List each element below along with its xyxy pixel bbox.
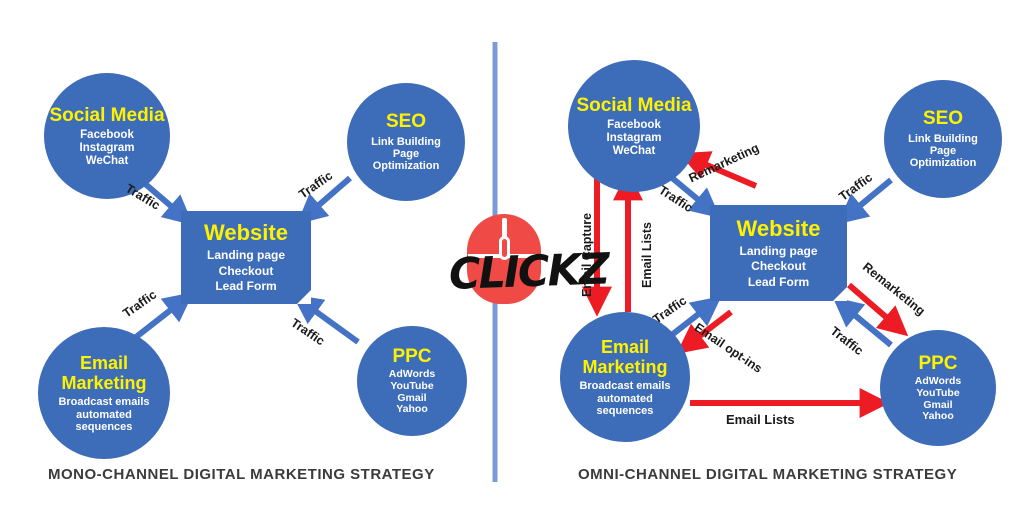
node-title: Website (204, 220, 288, 246)
left-node-seo[interactable]: SEO Link Building Page Optimization (347, 83, 465, 201)
left-node-ppc[interactable]: PPC AdWords YouTube Gmail Yahoo (357, 326, 467, 436)
node-title: Social Media (49, 105, 164, 126)
left-panel-caption: MONO-CHANNEL DIGITAL MARKETING STRATEGY (48, 466, 435, 483)
node-title: PPC (392, 346, 431, 367)
right-edge-label-email-lists-ppc: Email Lists (726, 412, 795, 427)
node-title: Website (737, 216, 821, 242)
node-title: Email Marketing (560, 337, 690, 377)
node-title: PPC (918, 353, 957, 374)
left-node-website[interactable]: Website Landing page Checkout Lead Form (181, 211, 311, 304)
corner-fold-icon (833, 287, 847, 301)
node-subtitle: Broadcast emails automated sequences (579, 380, 670, 417)
clickz-logo: CLICKZ (449, 214, 559, 310)
right-edge-label-email-capture: Email Capture (580, 213, 594, 297)
node-subtitle: Link Building Page Optimization (908, 133, 978, 170)
node-title: SEO (923, 108, 963, 129)
node-subtitle: AdWords YouTube Gmail Yahoo (915, 376, 961, 423)
node-title: SEO (386, 111, 426, 132)
right-node-social-media[interactable]: Social Media Facebook Instagram WeChat (568, 60, 700, 192)
node-title: Email Marketing (38, 353, 170, 393)
right-node-website[interactable]: Website Landing page Checkout Lead Form (710, 205, 847, 301)
right-node-ppc[interactable]: PPC AdWords YouTube Gmail Yahoo (880, 330, 996, 446)
node-subtitle: AdWords YouTube Gmail Yahoo (389, 369, 435, 416)
node-subtitle: Link Building Page Optimization (371, 136, 441, 173)
right-node-email-marketing[interactable]: Email Marketing Broadcast emails automat… (560, 312, 690, 442)
logo-wordmark: CLICKZ (448, 250, 559, 297)
node-subtitle: Facebook Instagram WeChat (607, 119, 662, 158)
corner-fold-icon (297, 290, 311, 304)
node-subtitle: Landing page Checkout Lead Form (740, 244, 818, 290)
node-subtitle: Landing page Checkout Lead Form (207, 248, 285, 294)
diagram-canvas: Social Media Facebook Instagram WeChat S… (0, 0, 1024, 522)
right-edge-label-email-lists-social: Email Lists (640, 222, 654, 288)
left-node-email-marketing[interactable]: Email Marketing Broadcast emails automat… (38, 327, 170, 459)
left-node-social-media[interactable]: Social Media Facebook Instagram WeChat (44, 73, 170, 199)
node-title: Social Media (576, 95, 691, 116)
node-subtitle: Facebook Instagram WeChat (80, 129, 135, 168)
node-subtitle: Broadcast emails automated sequences (58, 396, 149, 433)
right-node-seo[interactable]: SEO Link Building Page Optimization (884, 80, 1002, 198)
right-panel-caption: OMNI-CHANNEL DIGITAL MARKETING STRATEGY (578, 466, 957, 483)
